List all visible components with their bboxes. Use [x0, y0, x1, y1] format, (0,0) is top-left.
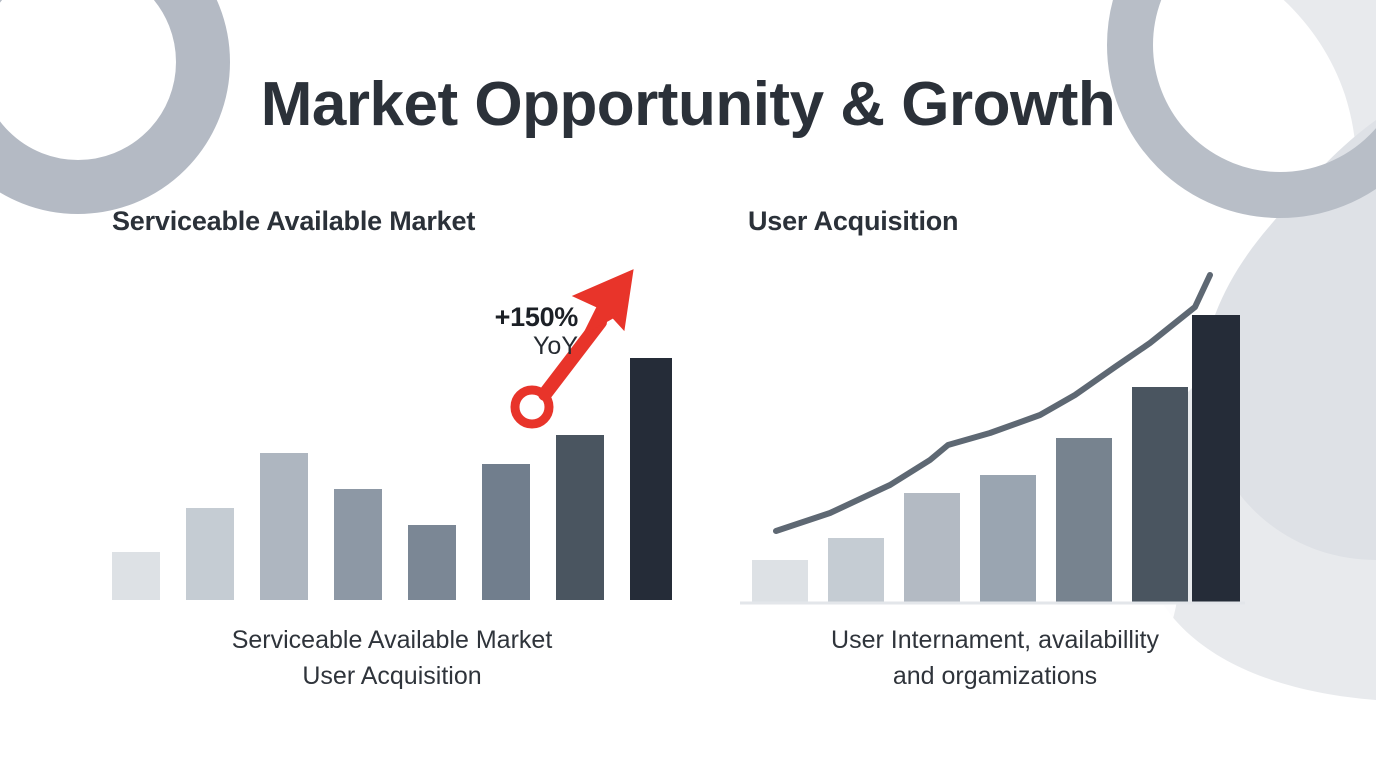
caption-right: User Internament, availabillity and orga… [745, 622, 1245, 695]
growth-annotation: +150% YoY [468, 302, 578, 360]
bar [752, 560, 808, 602]
panel-right-heading: User Acquisition [748, 205, 1248, 237]
caption-right-line1: User Internament, availabillity [745, 622, 1245, 658]
page-title: Market Opportunity & Growth [0, 72, 1376, 137]
bar [828, 538, 884, 602]
bar [904, 493, 960, 602]
bar [980, 475, 1036, 602]
bar [260, 453, 308, 600]
caption-left: Serviceable Available Market User Acquis… [92, 622, 692, 695]
bar [408, 525, 456, 600]
panel-right: User Acquisition [748, 205, 1248, 237]
bar [482, 464, 530, 600]
bar [556, 435, 604, 600]
chart-serviceable-available-market [112, 255, 672, 610]
bar [186, 508, 234, 600]
caption-left-line1: Serviceable Available Market [92, 622, 692, 658]
caption-right-line2: and orgamizations [745, 658, 1245, 694]
growth-annotation-unit: YoY [468, 332, 578, 360]
slide-canvas: Market Opportunity & Growth Serviceable … [0, 0, 1376, 768]
bar [1056, 438, 1112, 602]
growth-annotation-value: +150% [468, 302, 578, 332]
chart-user-acquisition [740, 255, 1245, 615]
left-bar-chart-svg [112, 255, 672, 610]
panel-left: Serviceable Available Market [112, 205, 672, 237]
right-chart-bars [752, 315, 1240, 602]
bar [1192, 315, 1240, 602]
bar [630, 358, 672, 600]
bar [334, 489, 382, 600]
caption-left-line2: User Acquisition [92, 658, 692, 694]
right-bar-chart-svg [740, 255, 1245, 615]
bar [1132, 387, 1188, 602]
panel-left-heading: Serviceable Available Market [112, 205, 672, 237]
bar [112, 552, 160, 600]
left-chart-bars [112, 358, 672, 600]
